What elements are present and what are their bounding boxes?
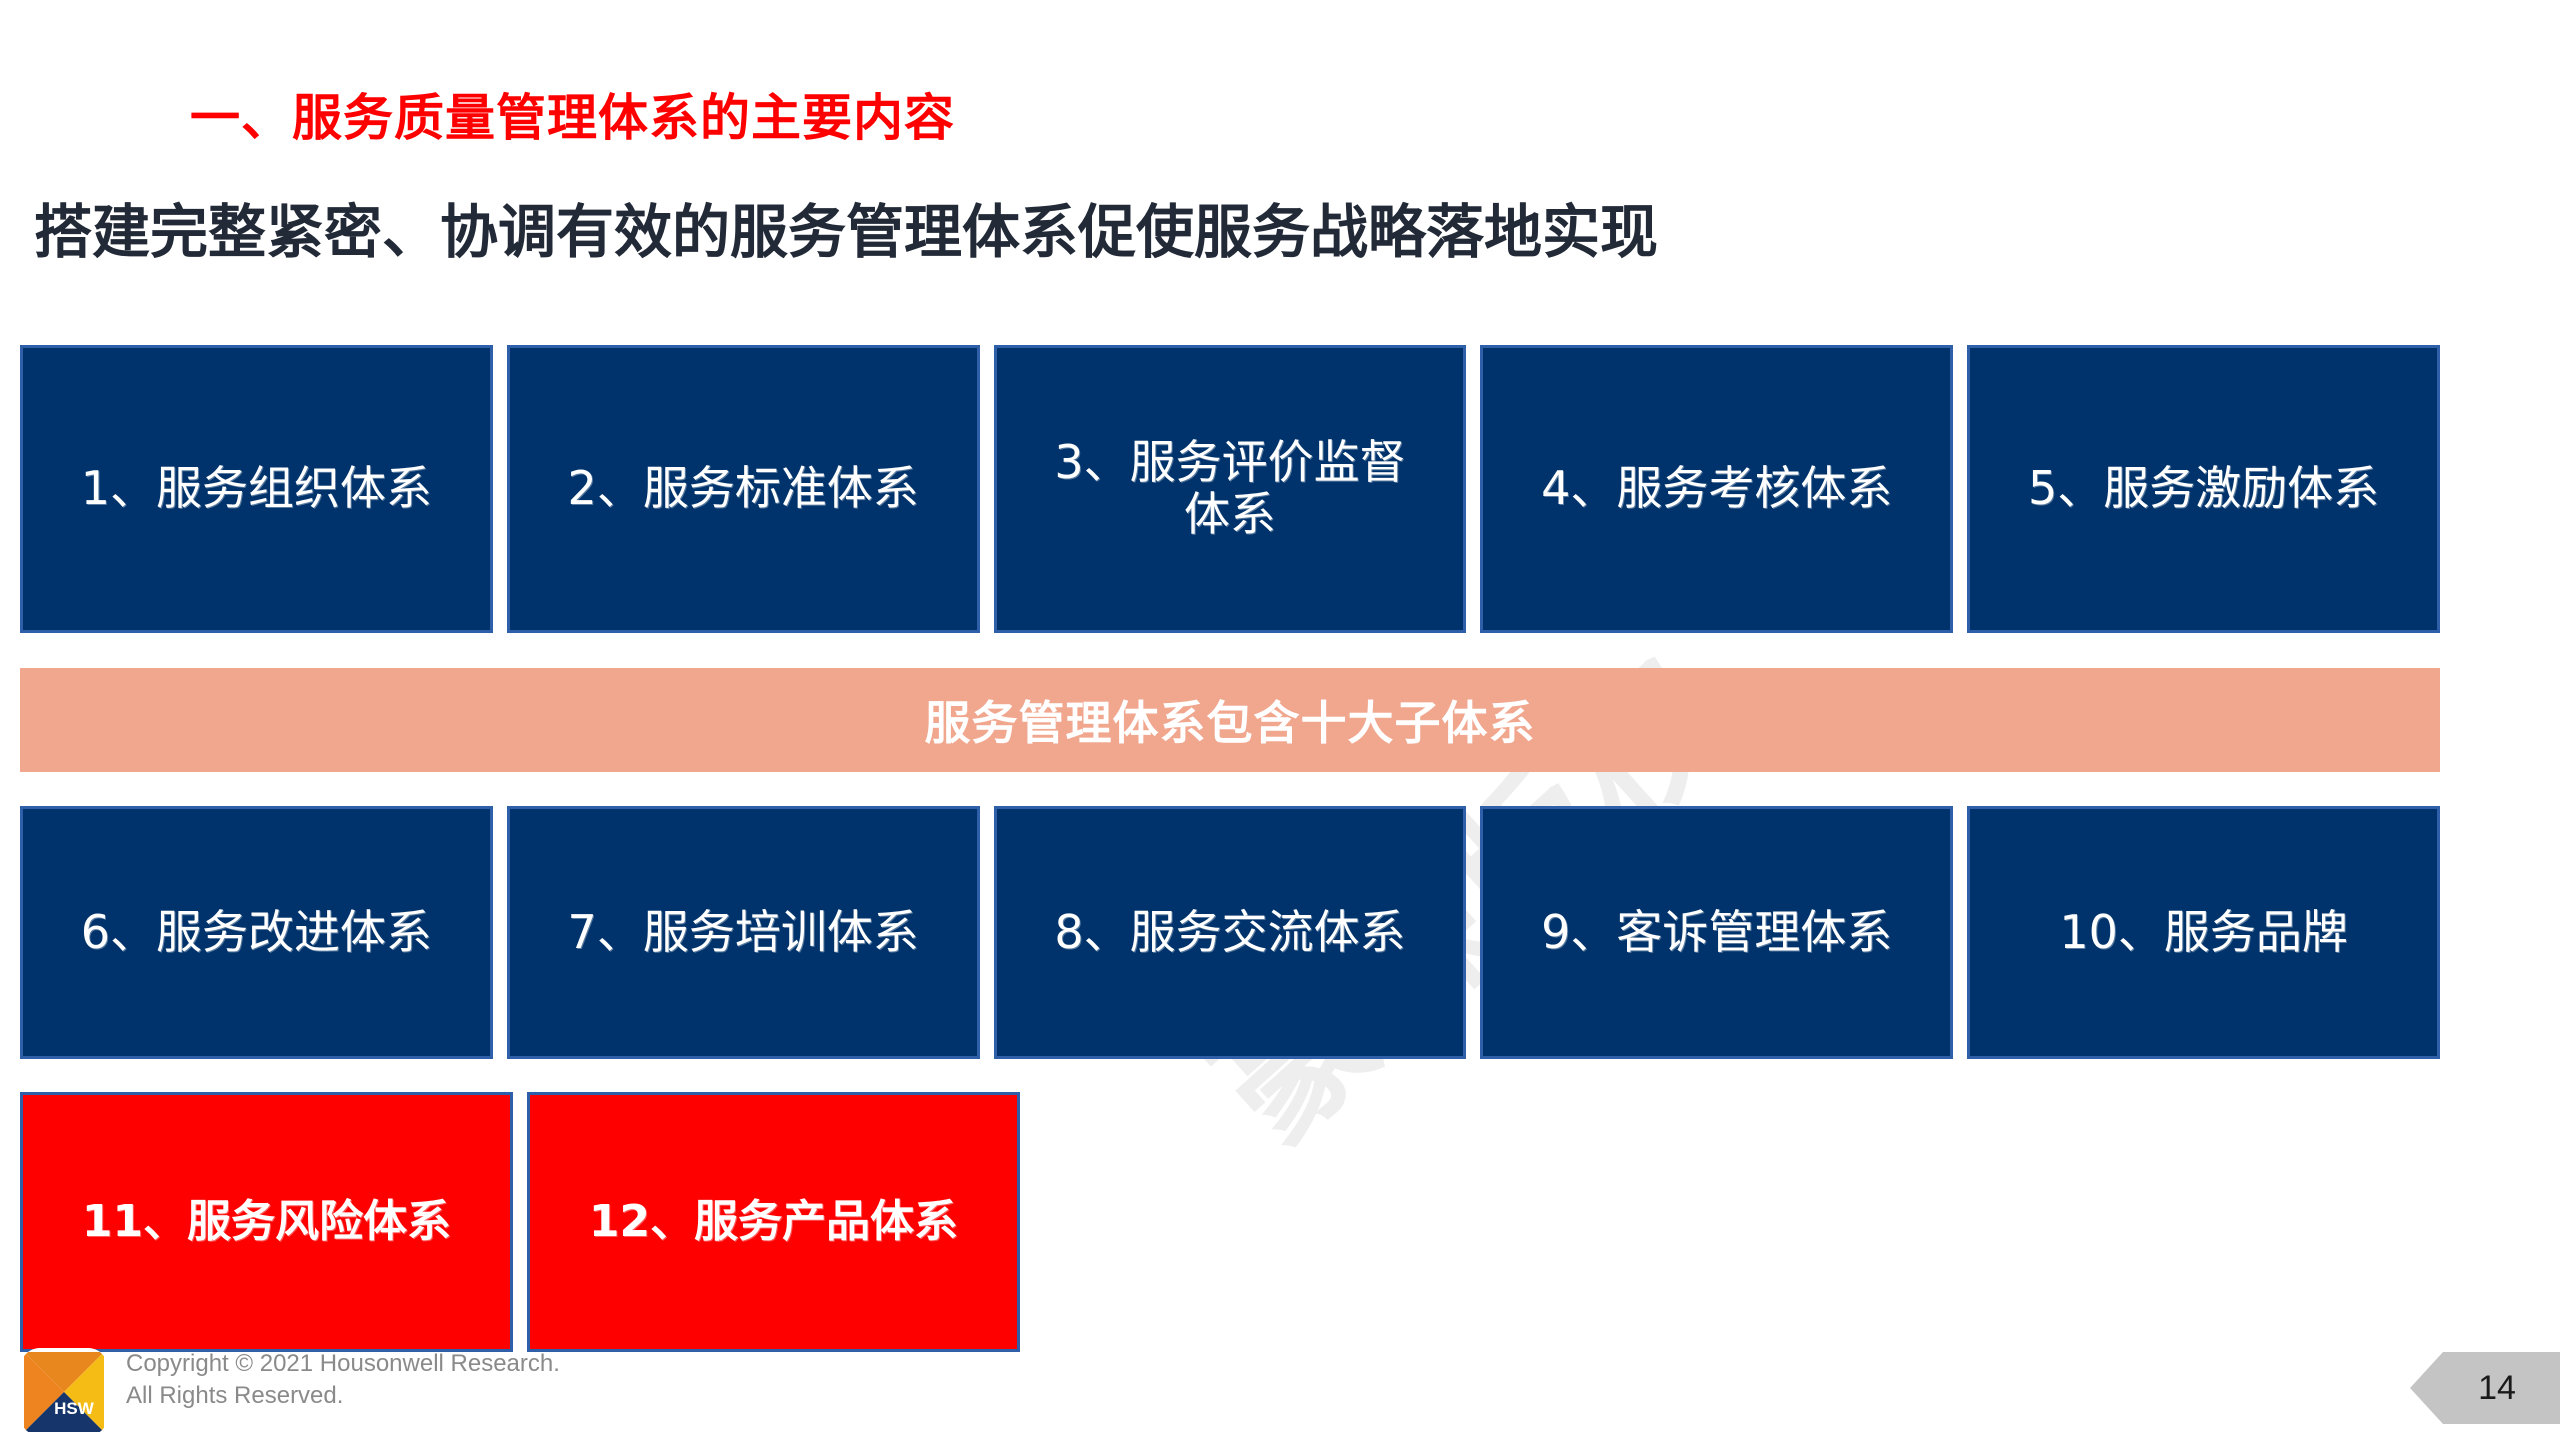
systems-row-3: 11、服务风险体系 12、服务产品体系 xyxy=(20,1092,1020,1352)
system-card-9[interactable]: 9、客诉管理体系 xyxy=(1480,806,1953,1059)
system-card-1[interactable]: 1、服务组织体系 xyxy=(20,345,493,633)
svg-text:HSW: HSW xyxy=(54,1399,95,1418)
system-card-label: 1、服务组织体系 xyxy=(81,463,432,515)
system-card-3[interactable]: 3、服务评价监督 体系 xyxy=(994,345,1467,633)
system-card-label: 6、服务改进体系 xyxy=(81,907,432,959)
system-card-label: 11、服务风险体系 xyxy=(82,1197,451,1246)
systems-row-2: 6、服务改进体系 7、服务培训体系 8、服务交流体系 9、客诉管理体系 10、服… xyxy=(20,806,2440,1059)
system-card-6[interactable]: 6、服务改进体系 xyxy=(20,806,493,1059)
systems-row-1: 1、服务组织体系 2、服务标准体系 3、服务评价监督 体系 4、服务考核体系 5… xyxy=(20,345,2440,633)
system-card-11[interactable]: 11、服务风险体系 xyxy=(20,1092,513,1352)
system-card-label: 9、客诉管理体系 xyxy=(1541,907,1892,959)
system-card-label: 7、服务培训体系 xyxy=(568,907,919,959)
system-card-2[interactable]: 2、服务标准体系 xyxy=(507,345,980,633)
page-title: 一、服务质量管理体系的主要内容 xyxy=(190,78,955,150)
system-card-label: 10、服务品牌 xyxy=(2059,907,2348,959)
system-card-label: 2、服务标准体系 xyxy=(568,463,919,515)
system-card-label: 12、服务产品体系 xyxy=(589,1197,958,1246)
page-subtitle: 搭建完整紧密、协调有效的服务管理体系促使服务战略落地实现 xyxy=(34,185,1658,269)
summary-banner: 服务管理体系包含十大子体系 xyxy=(20,668,2440,772)
system-card-8[interactable]: 8、服务交流体系 xyxy=(994,806,1467,1059)
hsw-logo-icon: HSW xyxy=(20,1348,108,1436)
footer-copyright: Copyright © 2021 Housonwell Research. Al… xyxy=(126,1348,560,1413)
system-card-12[interactable]: 12、服务产品体系 xyxy=(527,1092,1020,1352)
system-card-5[interactable]: 5、服务激励体系 xyxy=(1967,345,2440,633)
summary-banner-label: 服务管理体系包含十大子体系 xyxy=(925,687,1536,753)
system-card-label: 8、服务交流体系 xyxy=(1054,907,1405,959)
slide-canvas: 豪森版权 一、服务质量管理体系的主要内容 搭建完整紧密、协调有效的服务管理体系促… xyxy=(0,0,2560,1440)
copyright-line-1: Copyright © 2021 Housonwell Research. xyxy=(126,1348,560,1380)
page-number-label: 14 xyxy=(2454,1369,2516,1408)
system-card-label: 3、服务评价监督 体系 xyxy=(1054,437,1405,540)
system-card-label: 5、服务激励体系 xyxy=(2028,463,2379,515)
system-card-4[interactable]: 4、服务考核体系 xyxy=(1480,345,1953,633)
system-card-10[interactable]: 10、服务品牌 xyxy=(1967,806,2440,1059)
system-card-7[interactable]: 7、服务培训体系 xyxy=(507,806,980,1059)
copyright-line-2: All Rights Reserved. xyxy=(126,1380,560,1412)
page-number-badge: 14 xyxy=(2410,1352,2560,1424)
system-card-label: 4、服务考核体系 xyxy=(1541,463,1892,515)
